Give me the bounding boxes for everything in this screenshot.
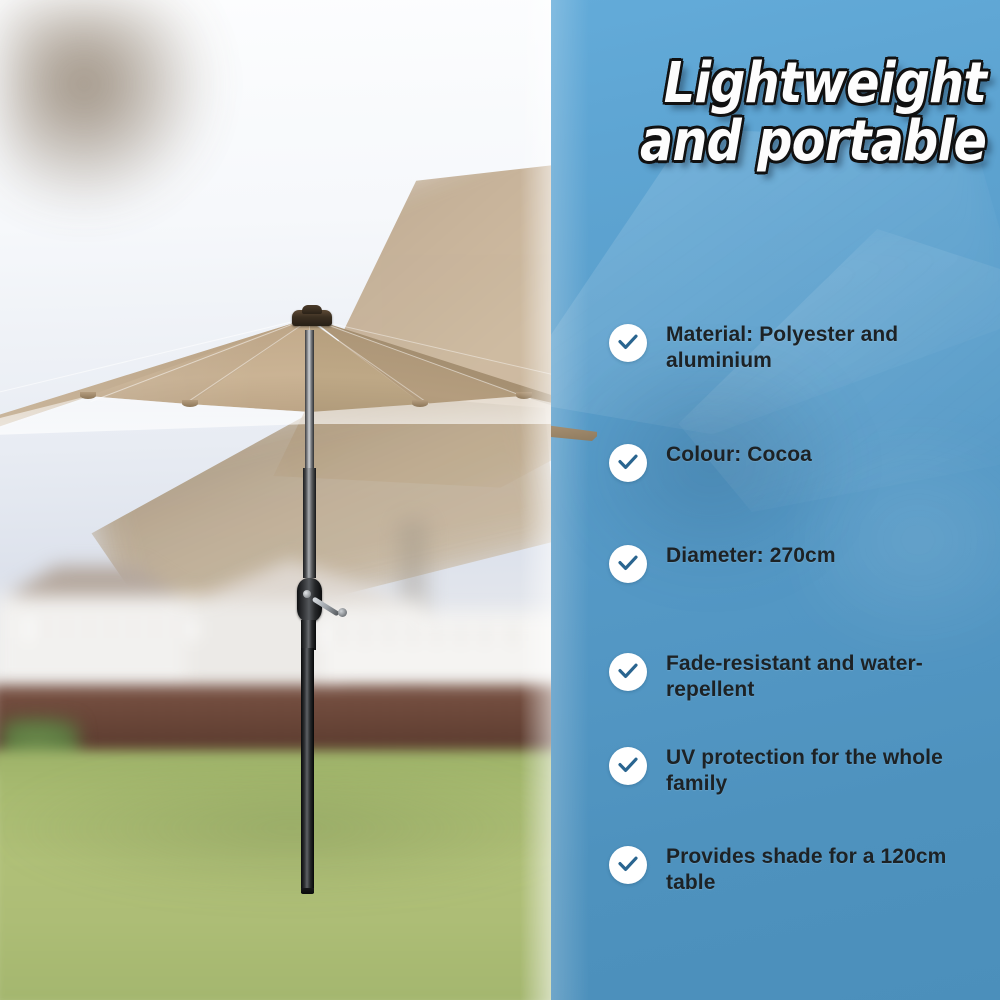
crank-knob: [338, 608, 347, 617]
umbrella-pole-middle: [303, 468, 316, 578]
feature-text: Diameter: 270cm: [666, 543, 990, 569]
umbrella-pole-lower: [301, 648, 314, 893]
umbrella-finial-cap: [302, 305, 322, 314]
umbrella-pole-upper: [305, 330, 314, 470]
check-circle-icon: [609, 444, 647, 482]
check-circle-icon: [609, 324, 647, 362]
umbrella-pole-joint: [301, 620, 316, 650]
feature-item: Colour: Cocoa: [551, 442, 1000, 482]
check-circle-icon: [609, 747, 647, 785]
feature-text: Provides shade for a 120cm table: [666, 844, 990, 897]
check-circle-icon: [609, 846, 647, 884]
headline-line-2: and portable: [603, 116, 986, 168]
check-circle-icon: [609, 653, 647, 691]
canopy-rib-tip: [182, 400, 198, 407]
feature-text: Material: Polyester and aluminium: [666, 322, 990, 375]
umbrella: [0, 0, 551, 1000]
umbrella-pole-tip: [301, 888, 314, 894]
umbrella-canopy-tip-overlap: [551, 395, 597, 443]
product-banner: Lightweight and portable Material: Polye…: [0, 0, 1000, 1000]
canopy-rib-tip: [516, 392, 532, 399]
crank-screw: [303, 590, 311, 598]
check-circle-icon: [609, 545, 647, 583]
feature-item: Material: Polyester and aluminium: [551, 322, 1000, 375]
product-photo: [0, 0, 551, 1000]
headline: Lightweight and portable: [551, 58, 1000, 167]
feature-item: UV protection for the whole family: [551, 745, 1000, 798]
feature-item: Fade-resistant and water-repellent: [551, 651, 1000, 704]
canopy-rib-tip: [80, 392, 96, 399]
umbrella-canopy: [0, 300, 551, 450]
feature-item: Diameter: 270cm: [551, 543, 1000, 583]
feature-text: Colour: Cocoa: [666, 442, 990, 468]
feature-text: UV protection for the whole family: [666, 745, 990, 798]
feature-text: Fade-resistant and water-repellent: [666, 651, 990, 704]
headline-line-1: Lightweight: [603, 58, 986, 110]
canopy-rib-tip: [412, 400, 428, 407]
feature-item: Provides shade for a 120cm table: [551, 844, 1000, 897]
